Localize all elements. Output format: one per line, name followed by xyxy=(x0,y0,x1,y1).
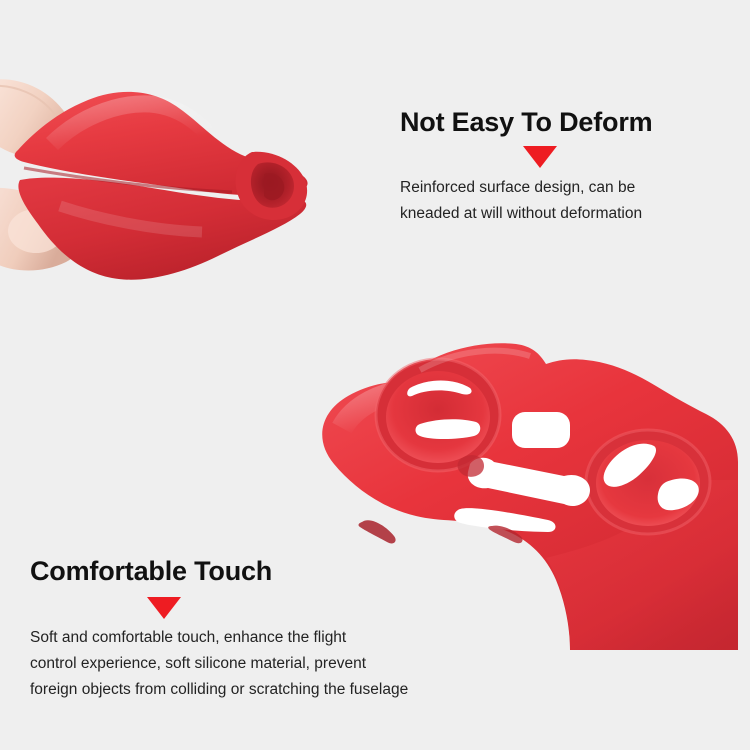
feature-heading-not-easy-to-deform: Not Easy To Deform xyxy=(400,108,652,138)
down-triangle-icon xyxy=(523,146,557,168)
product-feature-page: Not Easy To Deform Reinforced surface de… xyxy=(0,0,750,750)
feature-body-comfortable-touch: Soft and comfortable touch, enhance the … xyxy=(30,625,408,703)
right-gimbal-hole xyxy=(586,430,710,534)
left-gimbal-hole xyxy=(376,359,500,471)
button-cutout xyxy=(512,412,570,448)
product-photo-controller-case xyxy=(270,330,740,650)
feature-body-not-easy-to-deform: Reinforced surface design, can be kneade… xyxy=(400,175,642,227)
product-photo-squeeze xyxy=(0,28,360,318)
down-triangle-icon xyxy=(147,597,181,619)
feature-heading-comfortable-touch: Comfortable Touch xyxy=(30,557,272,587)
